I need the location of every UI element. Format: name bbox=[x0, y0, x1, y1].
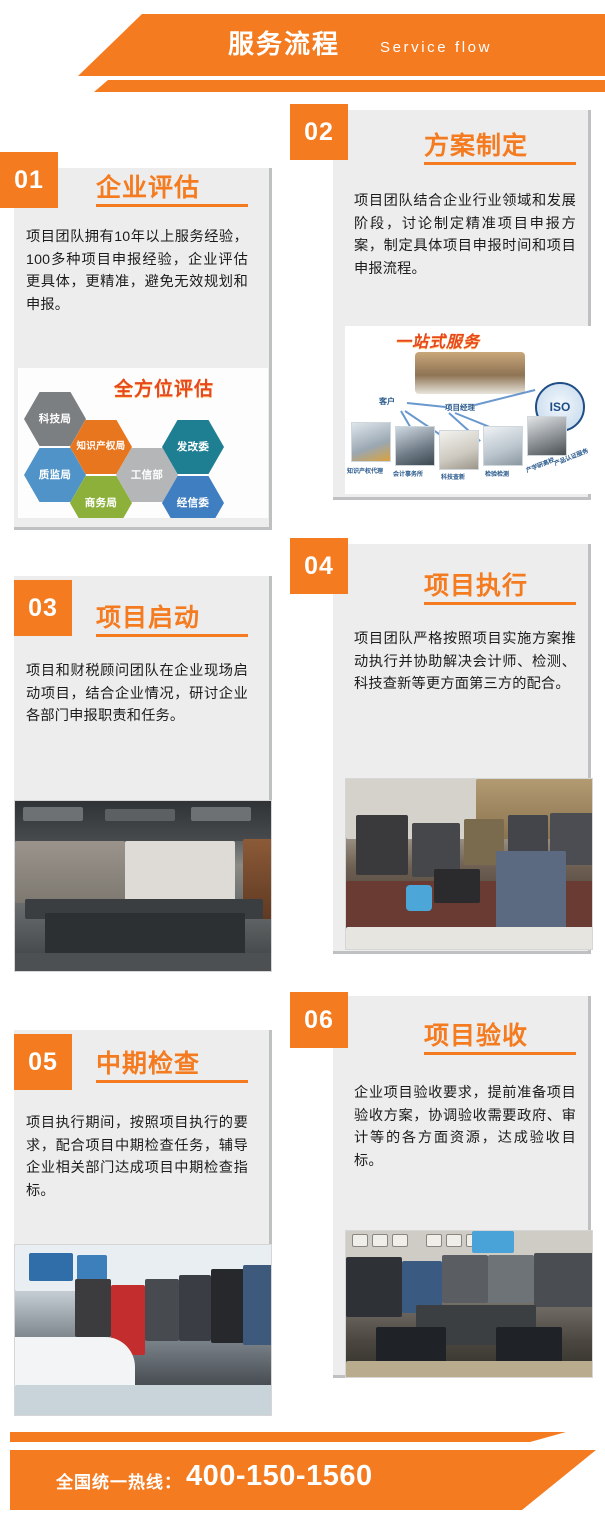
hex-diagram: 全方位评估 科技局 知识产权局 质监局 商务局 工信部 发改委 经信委 bbox=[18, 368, 268, 518]
hex-label: 商务局 bbox=[85, 497, 117, 509]
service-node-accounting: 会计事务所 bbox=[393, 469, 423, 478]
service-arrow-1 bbox=[407, 402, 447, 408]
step-body-01: 项目团队拥有10年以上服务经验，100多种项目申报经验，企业评估更具体，更精准，… bbox=[26, 226, 248, 316]
page-footer: 全国统一热线： 400-150-1560 bbox=[0, 1388, 605, 1538]
hex-label: 工信部 bbox=[131, 469, 163, 481]
step-number-04: 04 bbox=[290, 538, 348, 594]
step-number-03: 03 bbox=[14, 580, 72, 636]
step-title-rule-04 bbox=[424, 602, 576, 605]
hex-label: 质监局 bbox=[39, 469, 71, 481]
step-number-05: 05 bbox=[14, 1034, 72, 1090]
page-title: 服务流程 bbox=[228, 22, 340, 66]
step-title-rule-01 bbox=[96, 204, 248, 207]
service-node-testing: 检验检测 bbox=[485, 469, 509, 478]
step-photo-06 bbox=[345, 1230, 593, 1378]
step-body-02: 项目团队结合企业行业领域和发展阶段，讨论制定精准项目申报方案，制定具体项目申报时… bbox=[354, 190, 576, 280]
service-thumb-4 bbox=[483, 426, 523, 466]
service-node-novelty: 科技查新 bbox=[441, 472, 465, 481]
page-header: 服务流程 Service flow bbox=[0, 0, 605, 110]
service-diagram-title: 一站式服务 bbox=[395, 328, 480, 352]
step-number-02: 02 bbox=[290, 104, 348, 160]
service-thumb-2 bbox=[395, 426, 435, 466]
step-title-rule-05 bbox=[96, 1080, 248, 1083]
hex-label: 经信委 bbox=[177, 497, 209, 509]
step-title-03: 项目启动 bbox=[96, 598, 200, 634]
step-photo-04 bbox=[345, 778, 593, 950]
hotline-label: 全国统一热线： bbox=[56, 1468, 182, 1493]
service-node-ip: 知识产权代理 bbox=[347, 466, 383, 475]
infographic-page: 服务流程 Service flow 01 企业评估 项目团队拥有10年以上服务经… bbox=[0, 0, 605, 1538]
hex-label: 发改委 bbox=[177, 441, 209, 453]
service-thumb-3 bbox=[439, 430, 479, 470]
step-body-04: 项目团队严格按照项目实施方案推动执行并协助解决会计师、检测、科技查新等更方面第三… bbox=[354, 628, 576, 696]
hex-label: 知识产权局 bbox=[76, 441, 125, 453]
step-title-02: 方案制定 bbox=[424, 126, 528, 162]
hex-diagram-title: 全方位评估 bbox=[114, 374, 214, 401]
service-thumb-1 bbox=[351, 422, 391, 462]
step-title-05: 中期检查 bbox=[96, 1044, 200, 1080]
hotline-number[interactable]: 400-150-1560 bbox=[186, 1460, 373, 1493]
step-title-rule-03 bbox=[96, 634, 248, 637]
service-thumb-5 bbox=[527, 416, 567, 456]
step-number-06: 06 bbox=[290, 992, 348, 1048]
hex-label: 科技局 bbox=[39, 413, 71, 425]
service-node-client: 客户 bbox=[379, 396, 395, 407]
step-title-04: 项目执行 bbox=[424, 566, 528, 602]
header-stripe bbox=[0, 80, 605, 92]
step-title-rule-02 bbox=[424, 162, 576, 165]
service-hero-photo bbox=[415, 352, 525, 394]
step-title-rule-06 bbox=[424, 1052, 576, 1055]
footer-stripe bbox=[10, 1432, 605, 1442]
step-title-01: 企业评估 bbox=[96, 168, 200, 204]
step-body-03: 项目和财税顾问团队在企业现场启动项目，结合企业情况，研讨企业各部门申报职责和任务… bbox=[26, 660, 248, 728]
service-node-academic: 产学研高校 bbox=[524, 455, 555, 475]
step-body-06: 企业项目验收要求，提前准备项目验收方案，协调验收需要政府、审计等的各方面资源，达… bbox=[354, 1082, 576, 1172]
step-photo-03 bbox=[14, 800, 272, 972]
page-subtitle: Service flow bbox=[380, 34, 492, 62]
step-body-05: 项目执行期间，按照项目执行的要求，配合项目中期检查任务，辅导企业相关部门达成项目… bbox=[26, 1112, 248, 1202]
step-number-01: 01 bbox=[0, 152, 58, 208]
step-title-06: 项目验收 bbox=[424, 1016, 528, 1052]
service-diagram: 一站式服务 ISO 客户 项目经理 知识产权代理 会计事务所 科技查新 检验检测… bbox=[345, 326, 593, 494]
